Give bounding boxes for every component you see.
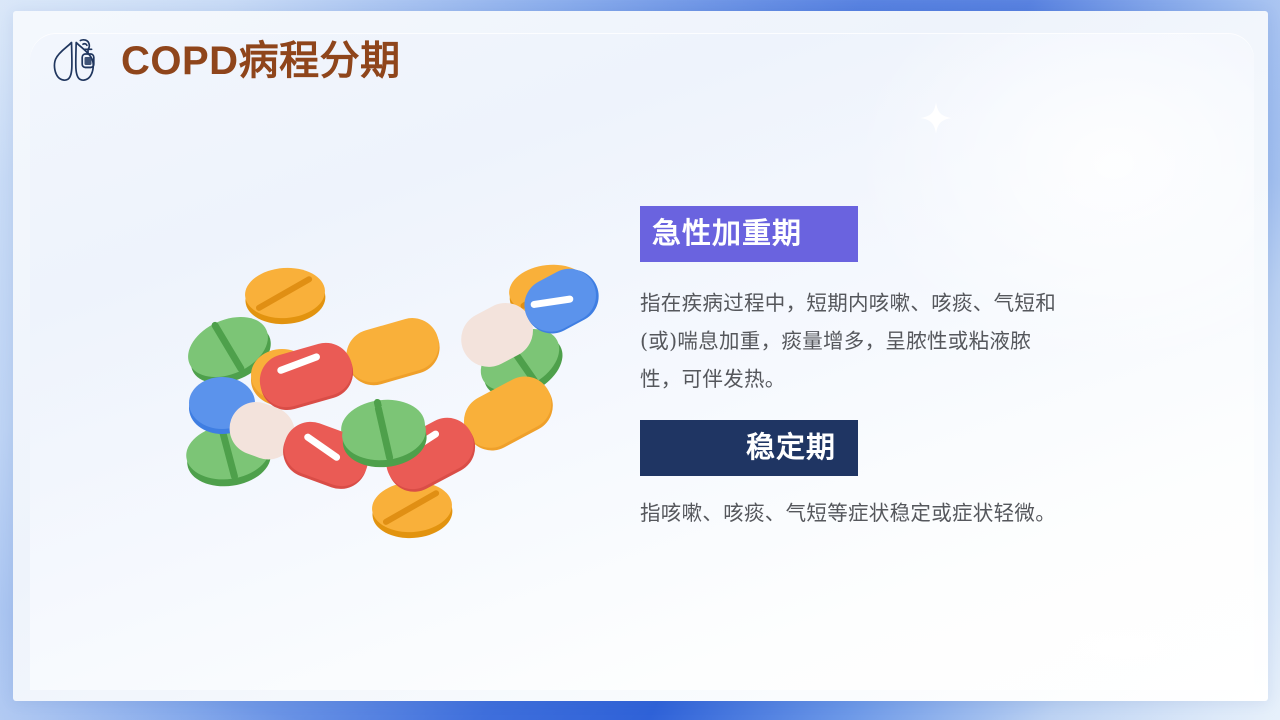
slide-background: COPD病程分期 (0, 0, 1280, 720)
page-title: COPD病程分期 (121, 41, 401, 81)
lungs-inhaler-icon (47, 35, 105, 87)
stage-description-acute-exacerbation: 指在疾病过程中，短期内咳嗽、咳痰、气短和(或)喘息加重，痰量增多，呈脓性或粘液脓… (640, 284, 1058, 398)
pills-capsules-illustration (160, 255, 620, 555)
stages-column: 急性加重期 指在疾病过程中，短期内咳嗽、咳痰、气短和(或)喘息加重，痰量增多，呈… (640, 206, 1070, 532)
slide-header: COPD病程分期 (47, 35, 401, 87)
spacer (640, 398, 1070, 420)
stage-badge-acute-label: 急性加重期 (652, 220, 802, 249)
spacer (640, 476, 1070, 494)
stage-badge-acute-exacerbation: 急性加重期 (640, 206, 858, 262)
stage-badge-stable-label: 稳定期 (746, 434, 836, 463)
stage-badge-stable: 稳定期 (640, 420, 858, 476)
stage-description-stable: 指咳嗽、咳痰、气短等症状稳定或症状轻微。 (640, 494, 1058, 532)
spacer (640, 262, 1070, 284)
